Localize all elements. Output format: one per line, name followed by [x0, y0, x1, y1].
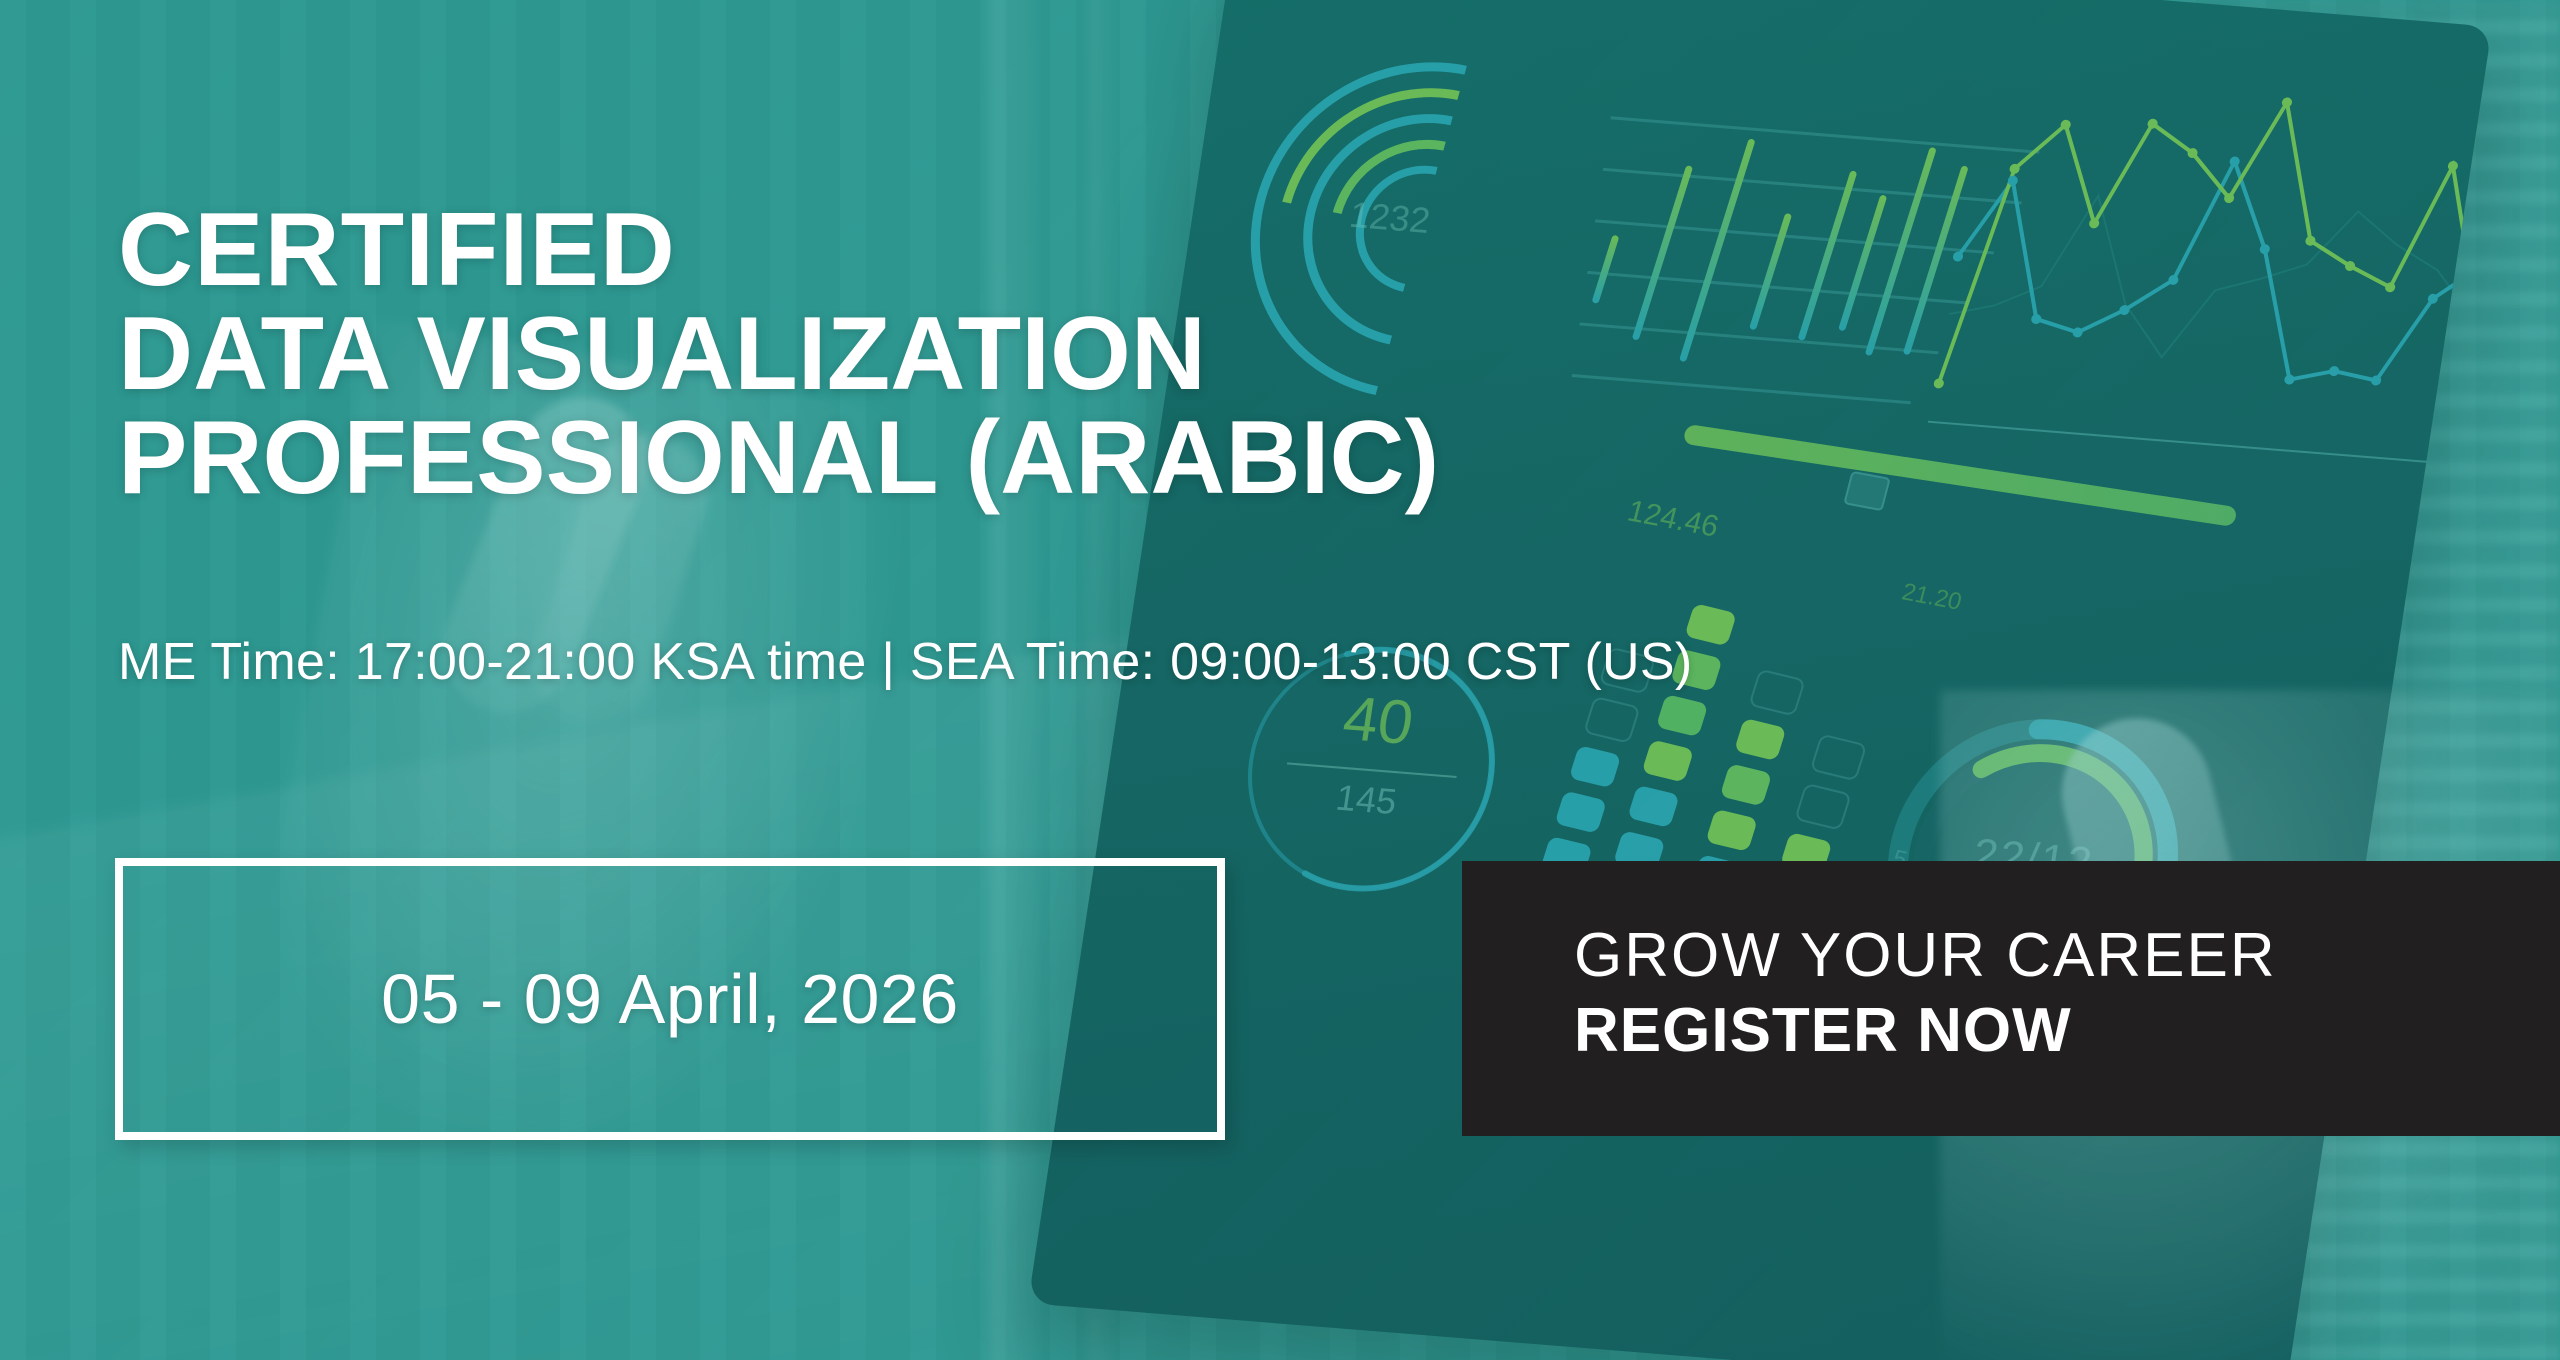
event-dates: 05 - 09 April, 2026 [381, 959, 959, 1039]
title-line-3: PROFESSIONAL (ARABIC) [118, 406, 1439, 510]
register-now-label[interactable]: REGISTER NOW [1574, 996, 2560, 1065]
promotional-banner: 1232 [0, 0, 2560, 1360]
title-line-1: CERTIFIED [118, 198, 1439, 302]
register-cta-block[interactable]: GROW YOUR CAREER REGISTER NOW [1462, 861, 2560, 1136]
title-line-2: DATA VISUALIZATION [118, 302, 1439, 406]
page-title: CERTIFIED DATA VISUALIZATION PROFESSIONA… [118, 198, 1439, 510]
cta-tagline: GROW YOUR CAREER [1574, 921, 2560, 990]
event-date-box: 05 - 09 April, 2026 [115, 858, 1225, 1140]
schedule-text: ME Time: 17:00-21:00 KSA time | SEA Time… [118, 632, 1693, 692]
banner-content: CERTIFIED DATA VISUALIZATION PROFESSIONA… [0, 0, 2560, 1360]
